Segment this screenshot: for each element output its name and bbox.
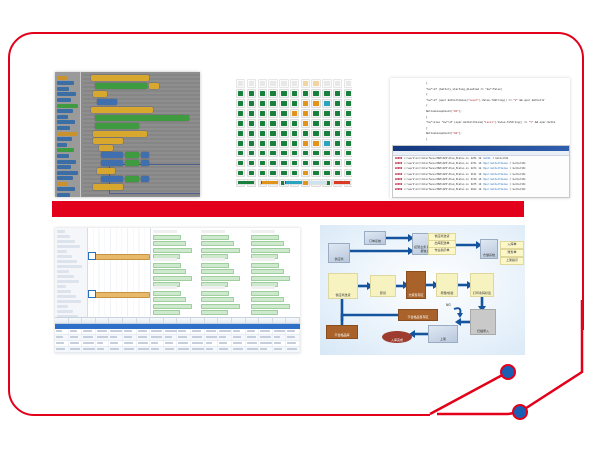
status-cell[interactable] — [344, 99, 352, 108]
sheet-toolbar-item[interactable] — [57, 265, 82, 268]
code-block[interactable] — [141, 176, 149, 182]
status-cell[interactable] — [311, 89, 320, 98]
sheet-toolbar-item[interactable] — [57, 285, 66, 288]
status-cell[interactable] — [279, 139, 288, 148]
table-cell[interactable] — [137, 335, 151, 340]
status-cell[interactable] — [344, 159, 352, 168]
data-grid-column-header[interactable] — [218, 318, 232, 323]
code-block[interactable] — [93, 91, 107, 97]
table-cell[interactable] — [96, 347, 110, 352]
status-cell[interactable] — [322, 119, 331, 128]
data-grid-column-header[interactable] — [205, 318, 219, 323]
status-cell[interactable] — [279, 89, 288, 98]
table-cell[interactable] — [286, 341, 300, 346]
status-cell[interactable] — [344, 109, 352, 118]
code-block[interactable] — [93, 184, 123, 190]
status-cell[interactable] — [268, 109, 277, 118]
data-grid-column-header[interactable] — [177, 318, 191, 323]
palette-chip[interactable] — [57, 165, 71, 169]
table-cell[interactable] — [137, 329, 151, 334]
status-cell[interactable] — [247, 129, 256, 138]
table-cell[interactable] — [82, 347, 96, 352]
status-cell[interactable] — [301, 99, 310, 108]
status-cell[interactable] — [311, 79, 320, 88]
screenshot-logistics-flow-diagram[interactable]: 供应商订单系统接受业务 确认单据信息仓储系统供应商送货卸货分拣暂存区称量/检验打… — [320, 225, 525, 355]
table-cell[interactable] — [69, 329, 83, 334]
status-cell[interactable] — [301, 129, 310, 138]
status-cell[interactable] — [268, 79, 277, 88]
gantt-bar[interactable] — [90, 292, 150, 298]
status-cell[interactable] — [344, 129, 352, 138]
palette-chip[interactable] — [57, 126, 70, 130]
screenshot-blocks-editor[interactable] — [55, 72, 200, 197]
status-cell[interactable] — [258, 159, 267, 168]
status-cell[interactable] — [333, 149, 342, 158]
palette-chip[interactable] — [57, 109, 73, 113]
table-cell[interactable] — [109, 341, 123, 346]
palette-chip[interactable] — [57, 143, 67, 147]
table-cell[interactable] — [273, 347, 287, 352]
status-cell[interactable] — [258, 79, 267, 88]
status-cell[interactable] — [279, 129, 288, 138]
status-cell[interactable] — [301, 139, 310, 148]
palette-chip[interactable] — [57, 148, 74, 152]
code-block[interactable] — [97, 99, 117, 105]
status-cell[interactable] — [333, 109, 342, 118]
status-cell[interactable] — [311, 139, 320, 148]
status-cell[interactable] — [236, 169, 245, 178]
flow-node-order-system[interactable]: 订单系统 — [364, 231, 386, 245]
palette-chip[interactable] — [57, 171, 78, 175]
code-block[interactable] — [141, 152, 149, 158]
table-cell[interactable] — [286, 347, 300, 352]
status-cell[interactable] — [258, 99, 267, 108]
table-cell[interactable] — [109, 347, 123, 352]
status-cell[interactable] — [290, 139, 299, 148]
status-cell[interactable] — [344, 139, 352, 148]
status-cell[interactable] — [247, 139, 256, 148]
form-field-group[interactable] — [251, 286, 295, 316]
status-cell[interactable] — [322, 129, 331, 138]
status-cell[interactable] — [268, 119, 277, 128]
table-cell[interactable] — [246, 329, 260, 334]
status-cell[interactable] — [322, 139, 331, 148]
status-cell[interactable] — [279, 169, 288, 178]
code-block[interactable] — [95, 123, 139, 129]
table-cell[interactable] — [69, 335, 83, 340]
palette-chip[interactable] — [57, 120, 75, 124]
status-cell[interactable] — [236, 119, 245, 128]
table-cell[interactable] — [69, 347, 83, 352]
flow-node-inspect[interactable]: 称量/检验 — [436, 273, 458, 297]
table-cell[interactable] — [82, 335, 96, 340]
status-cell[interactable] — [311, 149, 320, 158]
status-cell[interactable] — [268, 139, 277, 148]
status-cell[interactable] — [322, 79, 331, 88]
form-field-group[interactable] — [251, 230, 295, 261]
data-grid-column-header[interactable] — [191, 318, 205, 323]
palette-chip[interactable] — [57, 115, 68, 119]
status-cell[interactable] — [268, 99, 277, 108]
table-cell[interactable] — [273, 329, 287, 334]
status-cell[interactable] — [268, 89, 277, 98]
data-grid-column-header[interactable] — [123, 318, 137, 323]
table-cell[interactable] — [177, 341, 191, 346]
status-cell[interactable] — [236, 79, 245, 88]
table-cell[interactable] — [191, 335, 205, 340]
status-cell[interactable] — [247, 99, 256, 108]
data-grid-column-header[interactable] — [69, 318, 83, 323]
table-cell[interactable] — [218, 335, 232, 340]
flow-node-sort-area[interactable]: 分拣暂存区 — [406, 271, 426, 299]
status-cell[interactable] — [344, 89, 352, 98]
palette-chip[interactable] — [57, 81, 74, 85]
status-cell[interactable] — [290, 169, 299, 178]
data-grid-body[interactable] — [55, 329, 300, 353]
table-cell[interactable] — [273, 335, 287, 340]
table-cell[interactable] — [82, 341, 96, 346]
sheet-toolbar-item[interactable] — [57, 230, 65, 233]
status-cell[interactable] — [236, 129, 245, 138]
code-block[interactable] — [101, 176, 123, 182]
status-cell[interactable] — [290, 129, 299, 138]
table-cell[interactable] — [177, 347, 191, 352]
status-cell[interactable] — [258, 149, 267, 158]
table-cell[interactable] — [286, 335, 300, 340]
flow-node-supplier[interactable]: 供应商 — [328, 243, 350, 263]
flow-node-reject-store[interactable]: 不合格品库 — [326, 325, 358, 339]
table-cell[interactable] — [164, 341, 178, 346]
sheet-toolbar-item[interactable] — [57, 260, 77, 263]
status-cell[interactable] — [322, 109, 331, 118]
table-cell[interactable] — [150, 347, 164, 352]
table-cell[interactable] — [246, 347, 260, 352]
data-grid-column-header[interactable] — [273, 318, 287, 323]
data-grid-column-header[interactable] — [164, 318, 178, 323]
code-block[interactable] — [91, 107, 153, 113]
data-grid-column-header[interactable] — [259, 318, 273, 323]
sheet-toolbar-item[interactable] — [57, 280, 79, 283]
status-cell[interactable] — [247, 159, 256, 168]
data-grid[interactable] — [55, 317, 300, 353]
data-grid-column-header[interactable] — [246, 318, 260, 323]
flow-node-scan-in[interactable]: 扫描录入 — [470, 309, 496, 335]
status-cell[interactable] — [322, 89, 331, 98]
flow-node-putaway[interactable]: 上架 — [428, 325, 458, 343]
table-cell[interactable] — [55, 335, 69, 340]
table-cell[interactable] — [96, 329, 110, 334]
data-grid-column-header[interactable] — [150, 318, 164, 323]
sheet-toolbar-item[interactable] — [57, 295, 76, 298]
status-cell[interactable] — [333, 119, 342, 128]
status-cell[interactable] — [279, 149, 288, 158]
status-cell[interactable] — [290, 109, 299, 118]
sheet-toolbar-item[interactable] — [57, 300, 81, 303]
palette-chip[interactable] — [57, 87, 69, 91]
flow-node-unload[interactable]: 卸货 — [370, 275, 396, 297]
status-cell[interactable] — [279, 119, 288, 128]
status-cell[interactable] — [279, 159, 288, 168]
status-cell[interactable] — [236, 99, 245, 108]
table-cell[interactable] — [205, 335, 219, 340]
table-cell[interactable] — [205, 329, 219, 334]
code-block[interactable] — [93, 138, 123, 144]
status-cell[interactable] — [333, 79, 342, 88]
table-cell[interactable] — [232, 341, 246, 346]
status-cell[interactable] — [268, 149, 277, 158]
table-cell[interactable] — [246, 335, 260, 340]
gantt-bar[interactable] — [90, 254, 150, 260]
status-cell[interactable] — [258, 119, 267, 128]
table-cell[interactable] — [259, 341, 273, 346]
status-cell[interactable] — [290, 99, 299, 108]
data-grid-column-header[interactable] — [232, 318, 246, 323]
status-cell[interactable] — [290, 149, 299, 158]
code-block[interactable] — [95, 83, 147, 89]
status-cell[interactable] — [311, 99, 320, 108]
code-block[interactable] — [95, 115, 189, 121]
status-cell[interactable] — [247, 89, 256, 98]
palette-chip[interactable] — [57, 98, 71, 102]
table-cell[interactable] — [218, 341, 232, 346]
flow-node-delivery[interactable]: 供应商送货 — [328, 273, 358, 299]
sheet-toolbar-item[interactable] — [57, 290, 71, 293]
sheet-toolbar-item[interactable] — [57, 305, 68, 308]
status-cell[interactable] — [279, 99, 288, 108]
status-cell[interactable] — [247, 79, 256, 88]
status-cell[interactable] — [344, 79, 352, 88]
table-cell[interactable] — [82, 329, 96, 334]
sheet-toolbar-item[interactable] — [57, 255, 72, 258]
status-cell[interactable] — [322, 159, 331, 168]
table-cell[interactable] — [259, 329, 273, 334]
table-cell[interactable] — [232, 335, 246, 340]
palette-chip[interactable] — [57, 176, 73, 180]
status-cell[interactable] — [301, 169, 310, 178]
form-field-group[interactable] — [201, 286, 245, 316]
table-cell[interactable] — [177, 329, 191, 334]
status-cell[interactable] — [301, 109, 310, 118]
status-cell[interactable] — [333, 139, 342, 148]
output-console[interactable]: ERRORc:\work\src\Interfaces\MES\API\Item… — [392, 145, 570, 198]
palette-chip[interactable] — [57, 76, 67, 80]
table-cell[interactable] — [191, 329, 205, 334]
status-cell[interactable] — [268, 159, 277, 168]
status-cell[interactable] — [311, 109, 320, 118]
table-cell[interactable] — [150, 335, 164, 340]
table-cell[interactable] — [205, 347, 219, 352]
form-field-group[interactable] — [153, 230, 197, 261]
data-grid-column-header[interactable] — [286, 318, 300, 323]
status-cell[interactable] — [247, 169, 256, 178]
status-cell[interactable] — [344, 149, 352, 158]
table-cell[interactable] — [232, 347, 246, 352]
status-cell[interactable] — [301, 159, 310, 168]
sheet-toolbar-item[interactable] — [57, 240, 75, 243]
palette-chip[interactable] — [57, 187, 75, 191]
flow-node-label-print[interactable]: 打印条码标签 — [470, 273, 494, 297]
table-cell[interactable] — [286, 329, 300, 334]
table-cell[interactable] — [205, 341, 219, 346]
table-cell[interactable] — [150, 329, 164, 334]
table-cell[interactable] — [55, 341, 69, 346]
data-grid-column-header[interactable] — [82, 318, 96, 323]
status-cell[interactable] — [247, 149, 256, 158]
table-cell[interactable] — [55, 329, 69, 334]
status-cell[interactable] — [236, 139, 245, 148]
table-cell[interactable] — [123, 347, 137, 352]
table-cell[interactable] — [137, 341, 151, 346]
code-block[interactable] — [125, 176, 139, 182]
table-cell[interactable] — [177, 335, 191, 340]
table-cell[interactable] — [191, 347, 205, 352]
table-cell[interactable] — [69, 341, 83, 346]
code-block[interactable] — [125, 160, 139, 166]
table-cell[interactable] — [123, 335, 137, 340]
flow-node-inbound-done[interactable]: 入库完成 — [382, 331, 412, 343]
table-cell[interactable] — [109, 335, 123, 340]
table-cell[interactable] — [246, 341, 260, 346]
data-grid-column-header[interactable] — [109, 318, 123, 323]
table-cell[interactable] — [96, 335, 110, 340]
palette-chip[interactable] — [57, 182, 68, 186]
palette-chip[interactable] — [57, 137, 72, 141]
sheet-toolbar-item[interactable] — [57, 310, 73, 313]
status-cell[interactable] — [333, 89, 342, 98]
table-cell[interactable] — [164, 347, 178, 352]
sheet-toolbar-item[interactable] — [57, 250, 67, 253]
table-cell[interactable] — [137, 347, 151, 352]
status-cell[interactable] — [290, 119, 299, 128]
status-cell[interactable] — [311, 119, 320, 128]
console-log-list[interactable]: ERRORc:\work\src\Interfaces\MES\API\Item… — [393, 156, 569, 192]
form-field-group[interactable] — [153, 286, 197, 316]
table-cell[interactable] — [96, 341, 110, 346]
data-grid-column-header[interactable] — [55, 318, 69, 323]
status-cell[interactable] — [236, 109, 245, 118]
table-cell[interactable] — [109, 329, 123, 334]
code-block[interactable] — [97, 168, 115, 174]
status-cell[interactable] — [258, 139, 267, 148]
status-cell[interactable] — [279, 109, 288, 118]
blocks-palette[interactable] — [55, 72, 81, 197]
gantt-node[interactable] — [88, 290, 96, 298]
table-cell[interactable] — [150, 341, 164, 346]
palette-chip[interactable] — [57, 104, 78, 108]
status-cell[interactable] — [322, 169, 331, 178]
data-grid-column-header[interactable] — [137, 318, 151, 323]
status-cell[interactable] — [301, 79, 310, 88]
console-log-row[interactable]: ERRORc:\work\src\Interfaces\MES\API\Item… — [393, 187, 569, 192]
palette-chip[interactable] — [57, 160, 76, 164]
table-cell[interactable] — [164, 335, 178, 340]
sheet-toolbar-item[interactable] — [57, 275, 74, 278]
sheet-toolbar-item[interactable] — [57, 235, 70, 238]
form-field-group[interactable] — [201, 230, 245, 261]
status-cell[interactable] — [290, 159, 299, 168]
form-field-group[interactable] — [153, 258, 197, 289]
status-cell[interactable] — [333, 99, 342, 108]
table-cell[interactable] — [164, 329, 178, 334]
form-report-area[interactable] — [151, 228, 300, 316]
table-cell[interactable] — [232, 329, 246, 334]
table-cell[interactable] — [191, 341, 205, 346]
code-block[interactable] — [149, 83, 159, 89]
status-cell[interactable] — [311, 169, 320, 178]
status-cell[interactable] — [236, 89, 245, 98]
status-cell[interactable] — [290, 89, 299, 98]
status-cell[interactable] — [344, 169, 352, 178]
code-block[interactable] — [99, 145, 113, 151]
table-cell[interactable] — [259, 347, 273, 352]
status-cell[interactable] — [236, 159, 245, 168]
table-cell[interactable] — [259, 335, 273, 340]
status-cell[interactable] — [322, 149, 331, 158]
sheet-toolbar-item[interactable] — [57, 270, 69, 273]
code-block[interactable] — [93, 131, 147, 137]
code-block[interactable] — [141, 160, 149, 166]
table-cell[interactable] — [218, 347, 232, 352]
code-block[interactable] — [101, 152, 123, 158]
status-cell[interactable] — [236, 149, 245, 158]
status-cell[interactable] — [258, 109, 267, 118]
status-cell[interactable] — [258, 89, 267, 98]
gantt-node[interactable] — [88, 252, 96, 260]
status-cell[interactable] — [311, 129, 320, 138]
status-cell[interactable] — [333, 169, 342, 178]
sheet-toolbar-item[interactable] — [57, 245, 80, 248]
status-cell[interactable] — [290, 79, 299, 88]
flow-node-reject-area[interactable]: 不合格品暂存区 — [398, 309, 438, 321]
status-cell[interactable] — [247, 109, 256, 118]
form-field-group[interactable] — [251, 258, 295, 289]
screenshot-schedule-sheet[interactable] — [55, 228, 300, 353]
status-cell[interactable] — [333, 159, 342, 168]
flow-node-warehouse-sys[interactable]: 仓储系统 — [480, 239, 498, 259]
status-cell[interactable] — [311, 159, 320, 168]
blocks-canvas[interactable] — [83, 72, 200, 197]
code-text-area[interactable]: { "kw">if (battery_starting_disabled == … — [390, 78, 570, 144]
status-cell[interactable] — [322, 99, 331, 108]
table-cell[interactable] — [273, 341, 287, 346]
status-cell[interactable] — [301, 149, 310, 158]
gantt-chart-area[interactable] — [88, 228, 151, 316]
screenshot-code-editor[interactable]: { "kw">if (battery_starting_disabled == … — [390, 78, 570, 198]
code-block[interactable] — [101, 160, 123, 166]
data-grid-column-header[interactable] — [96, 318, 110, 323]
palette-chip[interactable] — [57, 193, 70, 197]
form-field-group[interactable] — [201, 258, 245, 289]
table-cell[interactable] — [123, 341, 137, 346]
code-block[interactable] — [125, 152, 139, 158]
palette-chip[interactable] — [57, 154, 69, 158]
palette-chip[interactable] — [57, 92, 76, 96]
status-cell[interactable] — [301, 89, 310, 98]
code-block[interactable] — [91, 75, 149, 81]
status-cell[interactable] — [279, 79, 288, 88]
table-cell[interactable] — [123, 329, 137, 334]
status-cell[interactable] — [333, 129, 342, 138]
status-cell[interactable] — [344, 119, 352, 128]
table-cell[interactable] — [55, 347, 69, 352]
status-cell[interactable] — [247, 119, 256, 128]
status-cell[interactable] — [301, 119, 310, 128]
status-matrix-cells[interactable] — [236, 79, 352, 187]
status-cell[interactable] — [258, 129, 267, 138]
palette-chip[interactable] — [57, 132, 77, 136]
status-cell[interactable] — [268, 169, 277, 178]
screenshot-status-matrix[interactable] — [232, 75, 352, 200]
